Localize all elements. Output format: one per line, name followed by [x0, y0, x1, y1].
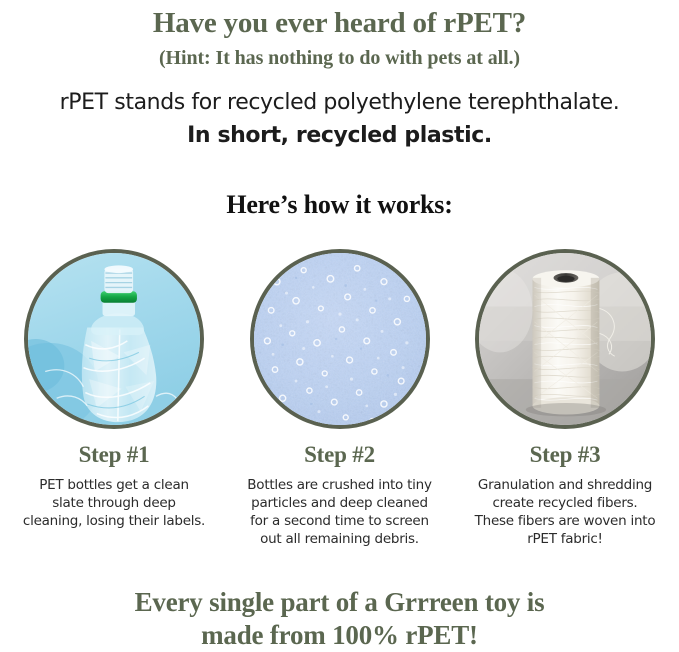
header-block: Have you ever heard of rPET? (Hint: It h…	[0, 6, 679, 70]
definition-block: rPET stands for recycled polyethylene te…	[0, 86, 679, 152]
definition-line-1: rPET stands for recycled polyethylene te…	[0, 86, 679, 119]
rpet-infographic: Have you ever heard of rPET? (Hint: It h…	[0, 0, 679, 648]
footer-tagline: Every single part of a Grrreen toy is ma…	[0, 586, 679, 652]
white-thread-spool-photo	[475, 249, 655, 429]
step-title-3: Step #3	[530, 441, 601, 468]
step-item-2: Step #2 Bottles are crushed into tiny pa…	[234, 249, 446, 548]
page-title: Have you ever heard of rPET?	[0, 6, 679, 40]
step-caption-2: Bottles are crushed into tiny particles …	[247, 476, 431, 548]
section-heading: Here’s how it works:	[0, 190, 679, 220]
step-item-3: Step #3 Granulation and shredding create…	[459, 249, 671, 548]
step-caption-3: Granulation and shredding create recycle…	[475, 476, 656, 548]
step-item-1: Step #1 PET bottles get a clean slate th…	[8, 249, 220, 530]
definition-line-2: In short, recycled plastic.	[0, 119, 679, 152]
step-caption-1: PET bottles get a clean slate through de…	[23, 476, 205, 530]
steps-row: Step #1 PET bottles get a clean slate th…	[0, 249, 679, 548]
step-title-2: Step #2	[304, 441, 375, 468]
step-title-1: Step #1	[79, 441, 150, 468]
headline-hint: (Hint: It has nothing to do with pets at…	[0, 46, 679, 70]
blue-plastic-pellets-photo	[250, 249, 430, 429]
crushed-plastic-bottle-photo	[24, 249, 204, 429]
